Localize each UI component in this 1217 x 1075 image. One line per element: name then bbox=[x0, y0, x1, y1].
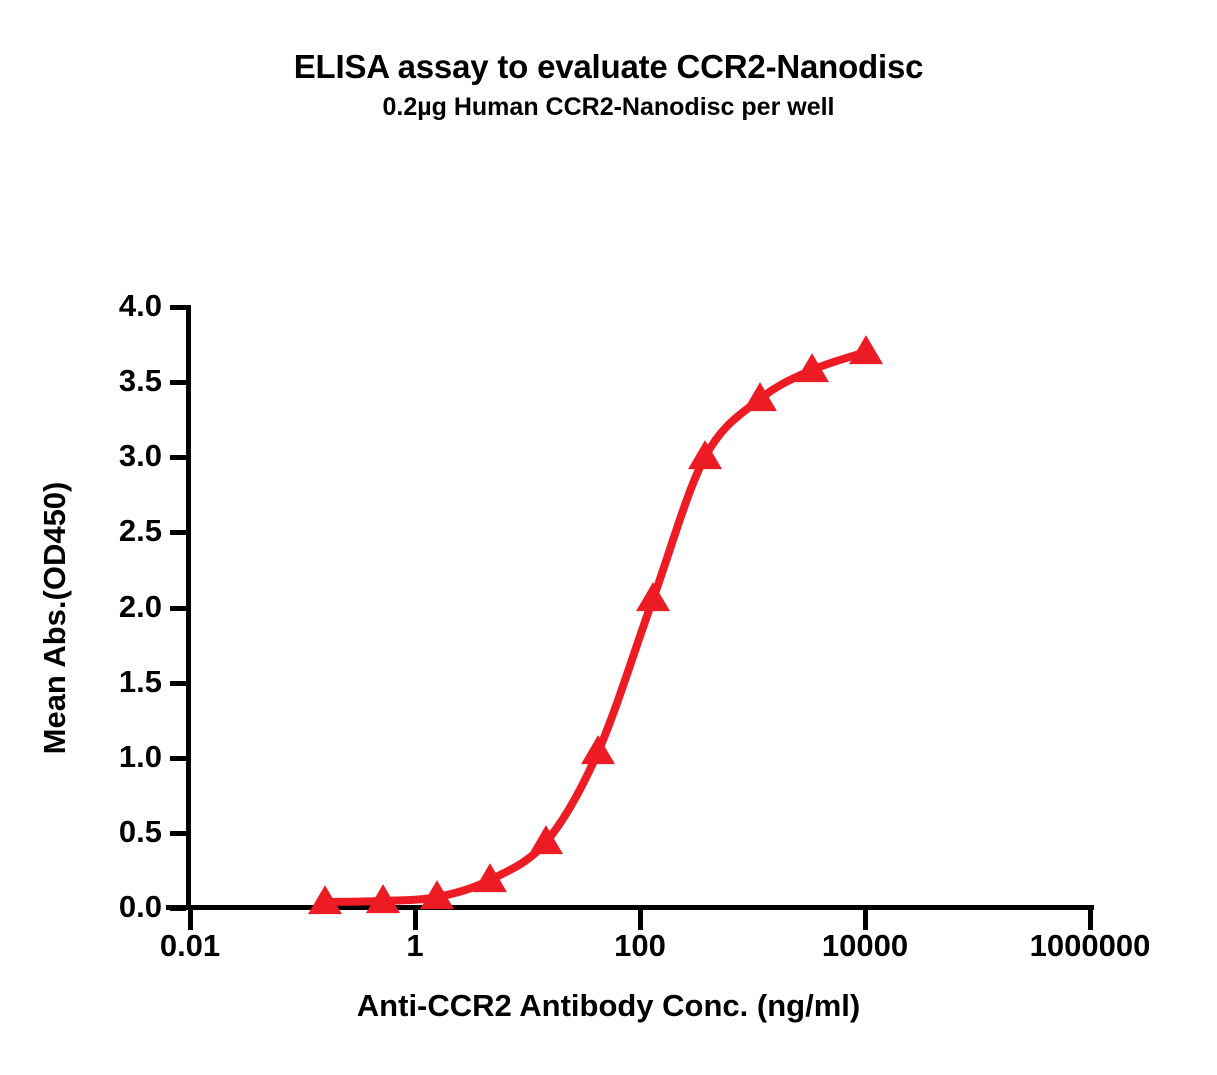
data-series-plot bbox=[0, 0, 1217, 1075]
data-point-marker bbox=[849, 335, 883, 364]
y-axis-title: Mean Abs.(OD450) bbox=[37, 308, 73, 928]
data-point-marker bbox=[581, 735, 615, 764]
x-axis-title: Anti-CCR2 Antibody Conc. (ng/ml) bbox=[0, 988, 1217, 1024]
data-point-marker bbox=[636, 582, 670, 611]
series-line bbox=[325, 352, 866, 902]
chart-figure: ELISA assay to evaluate CCR2-Nanodisc 0.… bbox=[0, 0, 1217, 1075]
